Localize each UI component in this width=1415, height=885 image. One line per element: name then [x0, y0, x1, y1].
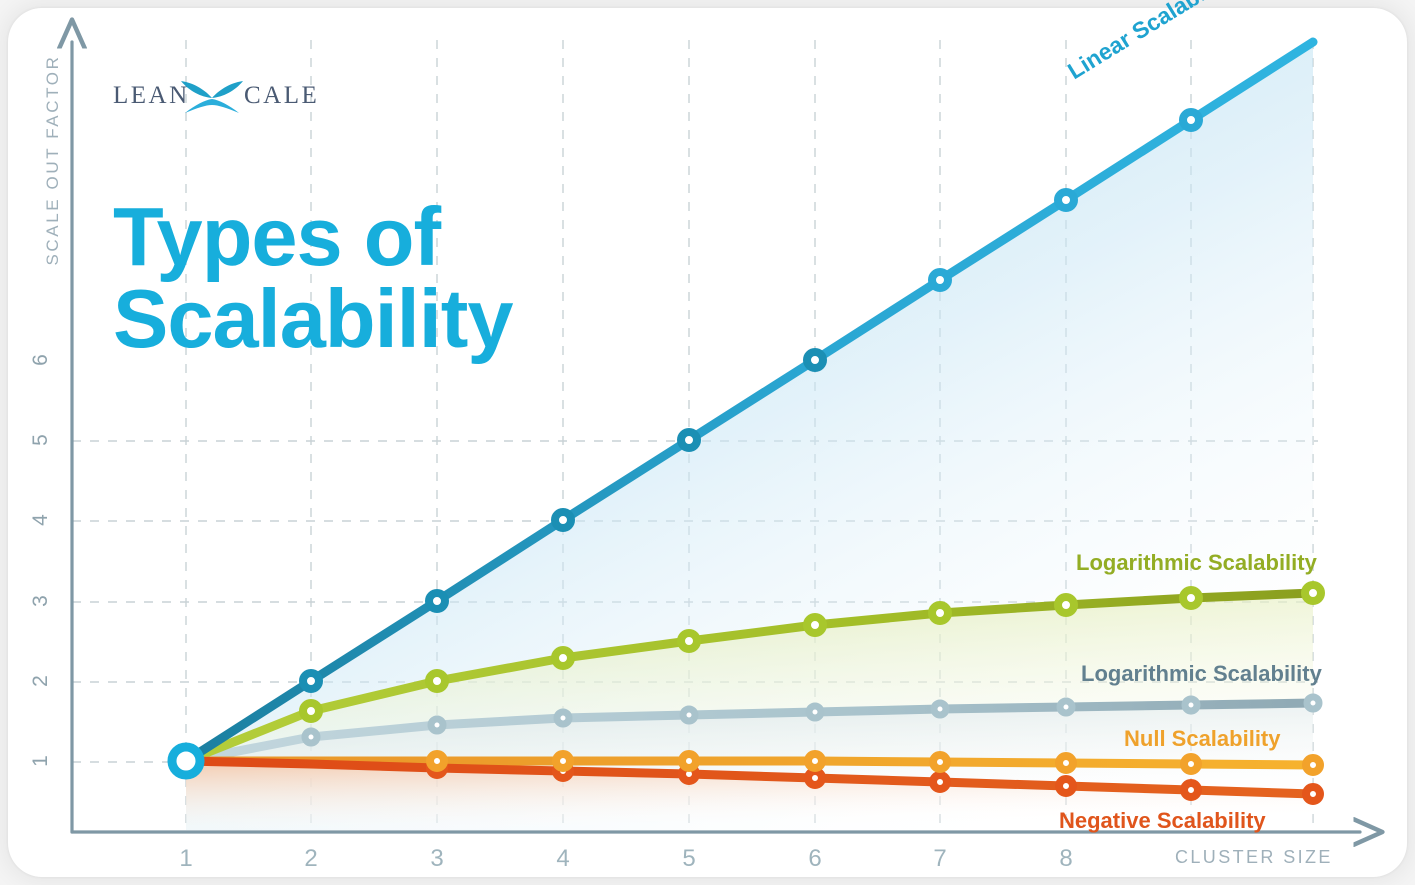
x-tick-4: 4 [548, 845, 578, 873]
series-label-logarithmic-lower: Logarithmic Scalability [1081, 661, 1322, 687]
x-axis-title: CLUSTER SIZE [1175, 847, 1333, 868]
origin-marker [172, 747, 200, 775]
x-tick-8: 8 [1051, 845, 1081, 873]
y-tick-2: 2 [29, 666, 53, 696]
x-swoosh-icon [179, 75, 245, 117]
x-tick-3: 3 [422, 845, 452, 873]
y-tick-3: 3 [29, 586, 53, 616]
x-tick-7: 7 [925, 845, 955, 873]
x-tick-2: 2 [296, 845, 326, 873]
title-line-1: Types of [113, 190, 440, 283]
y-tick-1: 1 [29, 746, 53, 776]
y-tick-4: 4 [29, 505, 53, 535]
y-axis-title: SCALE OUT FACTOR [43, 45, 63, 275]
series-label-null: Null Scalability [1124, 726, 1281, 752]
y-tick-5: 5 [29, 425, 53, 455]
x-tick-1: 1 [171, 845, 201, 873]
logo-word-cale: CALE [244, 82, 319, 110]
page-title: Types of Scalability [113, 196, 633, 360]
screenshot-root: LEAN CALE Types of Scalability SCALE OUT… [0, 0, 1415, 885]
series-label-logarithmic-upper: Logarithmic Scalability [1076, 550, 1317, 576]
title-line-2: Scalability [113, 278, 633, 360]
y-tick-6: 6 [29, 345, 53, 375]
series-label-negative: Negative Scalability [1059, 808, 1266, 834]
x-tick-5: 5 [674, 845, 704, 873]
logo-leanxcale: LEAN CALE [113, 77, 333, 119]
x-tick-6: 6 [800, 845, 830, 873]
scalability-chart [0, 0, 1415, 885]
